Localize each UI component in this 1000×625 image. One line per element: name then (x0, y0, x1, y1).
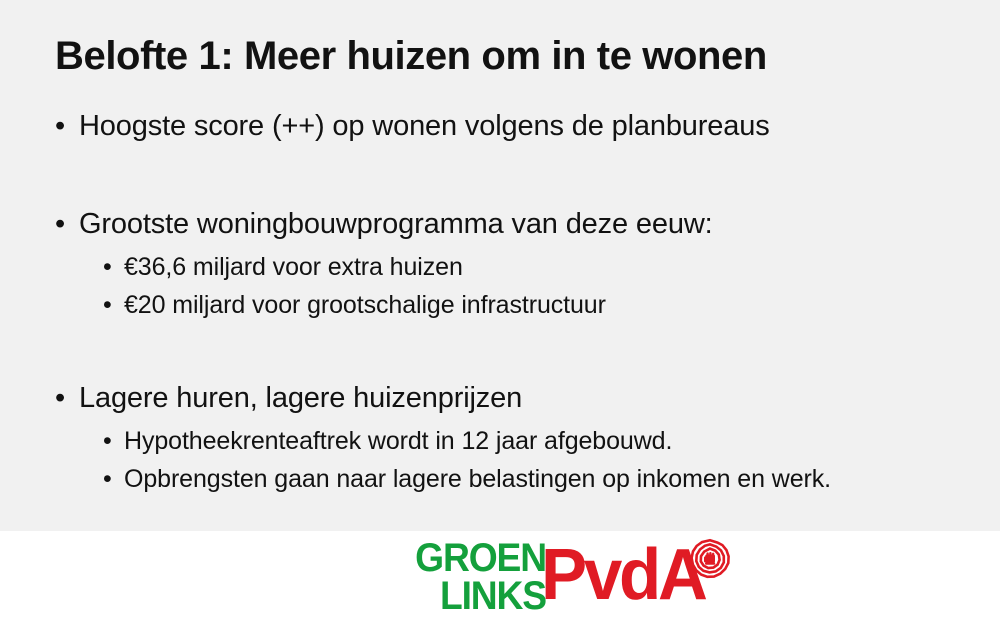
bullet-dot-icon: • (103, 286, 124, 324)
sub-bullet-text: €36,6 miljard voor extra huizen (124, 248, 463, 286)
groenlinks-line-links: LINKS (392, 578, 546, 614)
bullet-block: • Grootste woningbouwprogramma van deze … (55, 204, 985, 324)
sub-bullet-list: • Hypotheekrenteaftrek wordt in 12 jaar … (55, 422, 985, 498)
sub-bullet-item: • Hypotheekrenteaftrek wordt in 12 jaar … (55, 422, 985, 460)
bullet-dot-icon: • (55, 204, 79, 244)
bullet-text: Grootste woningbouwprogramma van deze ee… (79, 204, 713, 244)
bullet-text: Lagere huren, lagere huizenprijzen (79, 378, 522, 418)
page-title: Belofte 1: Meer huizen om in te wonen (55, 33, 767, 79)
sub-bullet-item: • €20 miljard voor grootschalige infrast… (55, 286, 985, 324)
slide: Belofte 1: Meer huizen om in te wonen • … (0, 0, 1000, 620)
slide-content-area: Belofte 1: Meer huizen om in te wonen • … (0, 0, 1000, 531)
bullet-block: • Hoogste score (++) op wonen volgens de… (55, 106, 985, 146)
groenlinks-line-groen: GROEN (392, 540, 546, 576)
sub-bullet-text: Opbrengsten gaan naar lagere belastingen… (124, 460, 831, 498)
pvda-wordmark: PvdA (541, 537, 705, 613)
sub-bullet-item: • Opbrengsten gaan naar lagere belasting… (55, 460, 985, 498)
bullet-text: Hoogste score (++) op wonen volgens de p… (79, 106, 770, 146)
bullet-dot-icon: • (103, 248, 124, 286)
footer-logo-band: GROEN LINKS PvdA (0, 531, 1000, 620)
bullet-dot-icon: • (55, 106, 79, 146)
groenlinks-pvda-logo: GROEN LINKS PvdA (380, 533, 735, 625)
bullet-item: • Grootste woningbouwprogramma van deze … (55, 204, 985, 244)
sub-bullet-item: • €36,6 miljard voor extra huizen (55, 248, 985, 286)
bullet-dot-icon: • (55, 378, 79, 418)
bullet-item: • Lagere huren, lagere huizenprijzen (55, 378, 985, 418)
groenlinks-wordmark: GROEN LINKS (380, 533, 546, 614)
sub-bullet-text: Hypotheekrenteaftrek wordt in 12 jaar af… (124, 422, 672, 460)
bullet-dot-icon: • (103, 460, 124, 498)
bullet-item: • Hoogste score (++) op wonen volgens de… (55, 106, 985, 146)
bullet-block: • Lagere huren, lagere huizenprijzen • H… (55, 378, 985, 498)
fist-and-rose-icon (688, 537, 732, 581)
sub-bullet-list: • €36,6 miljard voor extra huizen • €20 … (55, 248, 985, 324)
sub-bullet-text: €20 miljard voor grootschalige infrastru… (124, 286, 606, 324)
bullet-dot-icon: • (103, 422, 124, 460)
